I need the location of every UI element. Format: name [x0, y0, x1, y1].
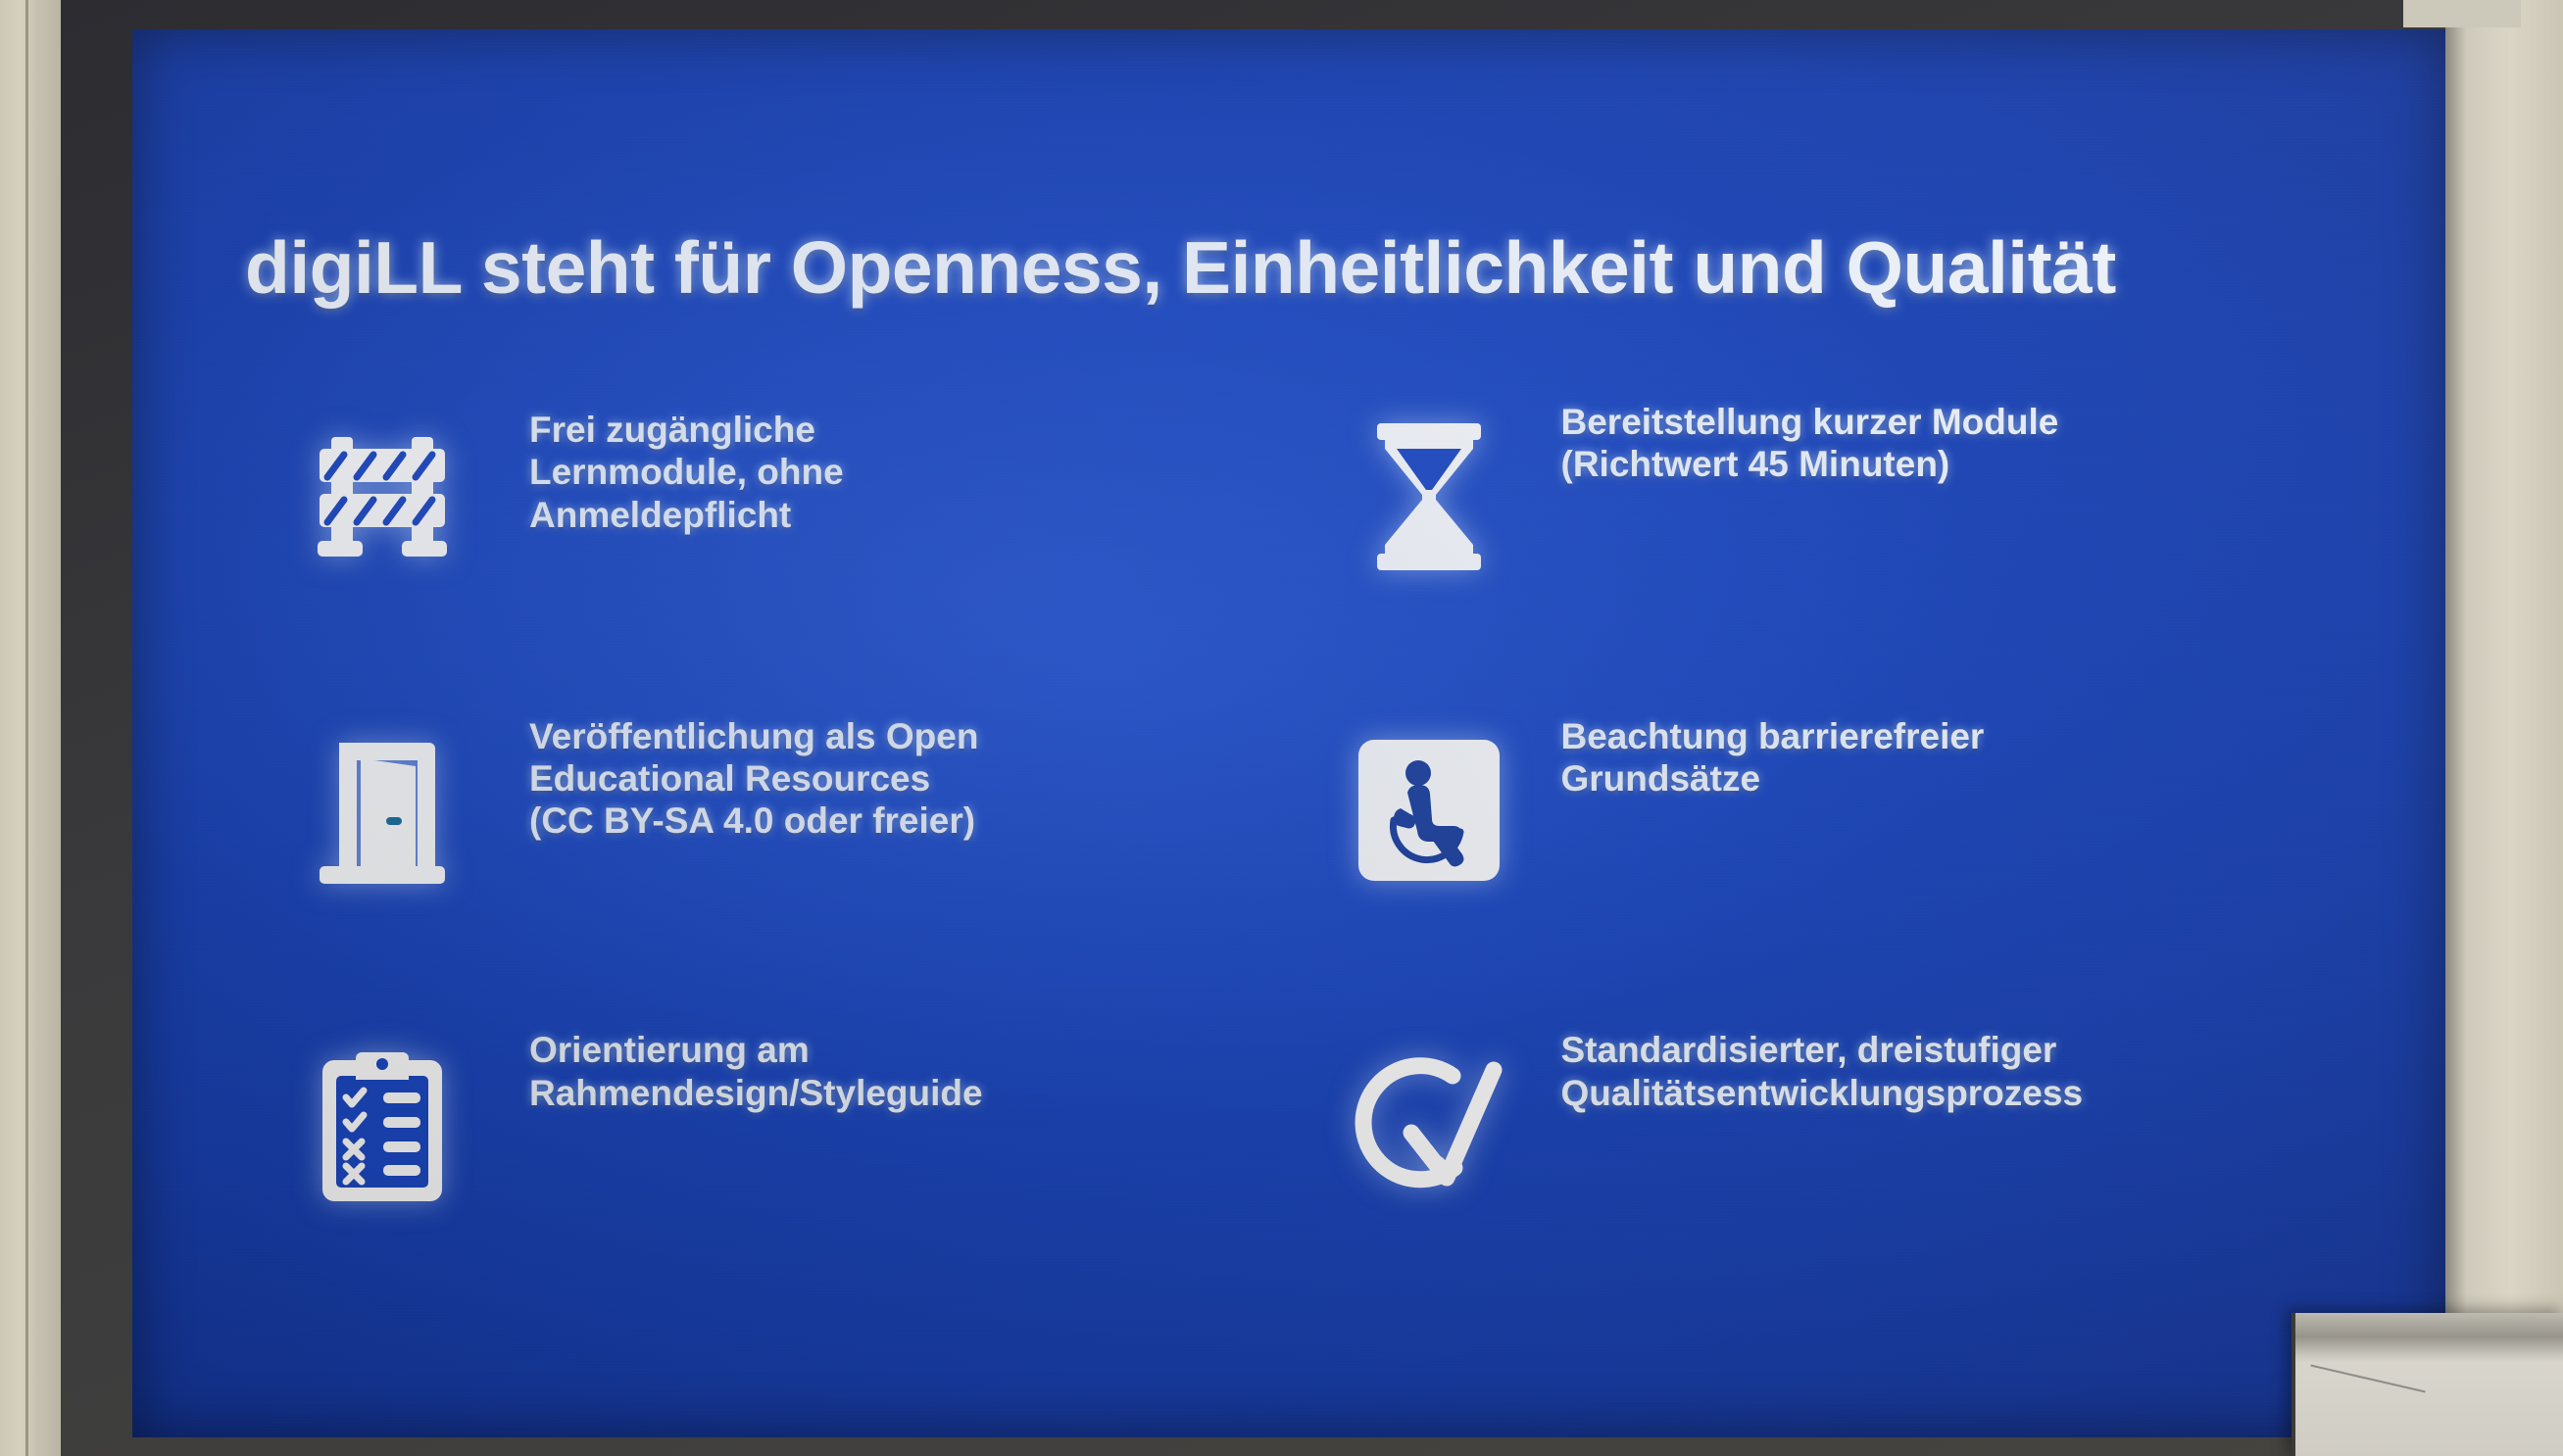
wall-right	[2445, 0, 2563, 1456]
feature-line: Veröffentlichung als Open	[529, 715, 978, 757]
feature-line: Standardisierter, dreistufiger	[1561, 1029, 2084, 1071]
feature-text: Orientierung am Rahmendesign/Styleguide	[529, 1019, 983, 1114]
clipboard-checklist-icon	[235, 1019, 529, 1230]
circular-arrow-checkmark-icon	[1297, 1019, 1561, 1230]
wheelchair-accessibility-icon	[1297, 705, 1561, 916]
slide-title: digiLL steht für Openness, Einheitlichke…	[245, 225, 2303, 310]
presentation-slide: digiLL steht für Openness, Einheitlichke…	[132, 29, 2445, 1437]
hourglass-icon	[1297, 391, 1561, 602]
open-door-icon	[235, 705, 529, 916]
feature-line: Anmeldepflicht	[529, 494, 844, 536]
feature-text: Frei zugängliche Lernmodule, ohne Anmeld…	[529, 391, 844, 536]
feature-line: Grundsätze	[1561, 757, 1985, 800]
feature-line: Rahmendesign/Styleguide	[529, 1072, 983, 1114]
feature-item-bereitstellung: Bereitstellung kurzer Module (Richtwert …	[1297, 377, 2358, 692]
projection-room-scene: digiLL steht für Openness, Einheitlichke…	[0, 0, 2563, 1456]
feature-item-barrierefreiheit: Beachtung barrierefreier Grundsätze	[1297, 692, 2358, 1006]
feature-line: Frei zugängliche	[529, 409, 844, 451]
feature-text: Veröffentlichung als Open Educational Re…	[529, 705, 978, 843]
flipchart-board	[2292, 1313, 2563, 1456]
barrier-icon	[235, 391, 529, 602]
feature-line: Lernmodule, ohne	[529, 451, 844, 493]
flipchart-rail	[2295, 1313, 2563, 1356]
feature-line: Educational Resources	[529, 757, 978, 800]
feature-line: (CC BY-SA 4.0 oder freier)	[529, 800, 978, 842]
wall-seam	[25, 0, 28, 1456]
feature-item-frei-zugaengliche: Frei zugängliche Lernmodule, ohne Anmeld…	[235, 377, 1297, 692]
feature-item-qualitaetsprozess: Standardisierter, dreistufiger Qualitäts…	[1297, 1005, 2358, 1320]
feature-item-orientierung: Orientierung am Rahmendesign/Styleguide	[235, 1005, 1297, 1320]
flipchart-crease	[2310, 1365, 2425, 1393]
wall-left	[0, 0, 61, 1456]
feature-item-veroeffentlichung: Veröffentlichung als Open Educational Re…	[235, 692, 1297, 1006]
feature-text: Standardisierter, dreistufiger Qualitäts…	[1561, 1019, 2084, 1114]
feature-line: Qualitätsentwicklungsprozess	[1561, 1072, 2084, 1114]
feature-line: Beachtung barrierefreier	[1561, 715, 1985, 757]
flipchart-top-edge	[2403, 0, 2521, 27]
feature-grid: Frei zugängliche Lernmodule, ohne Anmeld…	[235, 377, 2357, 1320]
feature-line: (Richtwert 45 Minuten)	[1561, 443, 2059, 485]
feature-line: Orientierung am	[529, 1029, 983, 1071]
feature-text: Beachtung barrierefreier Grundsätze	[1561, 705, 1985, 801]
feature-line: Bereitstellung kurzer Module	[1561, 401, 2059, 443]
feature-text: Bereitstellung kurzer Module (Richtwert …	[1561, 391, 2059, 486]
